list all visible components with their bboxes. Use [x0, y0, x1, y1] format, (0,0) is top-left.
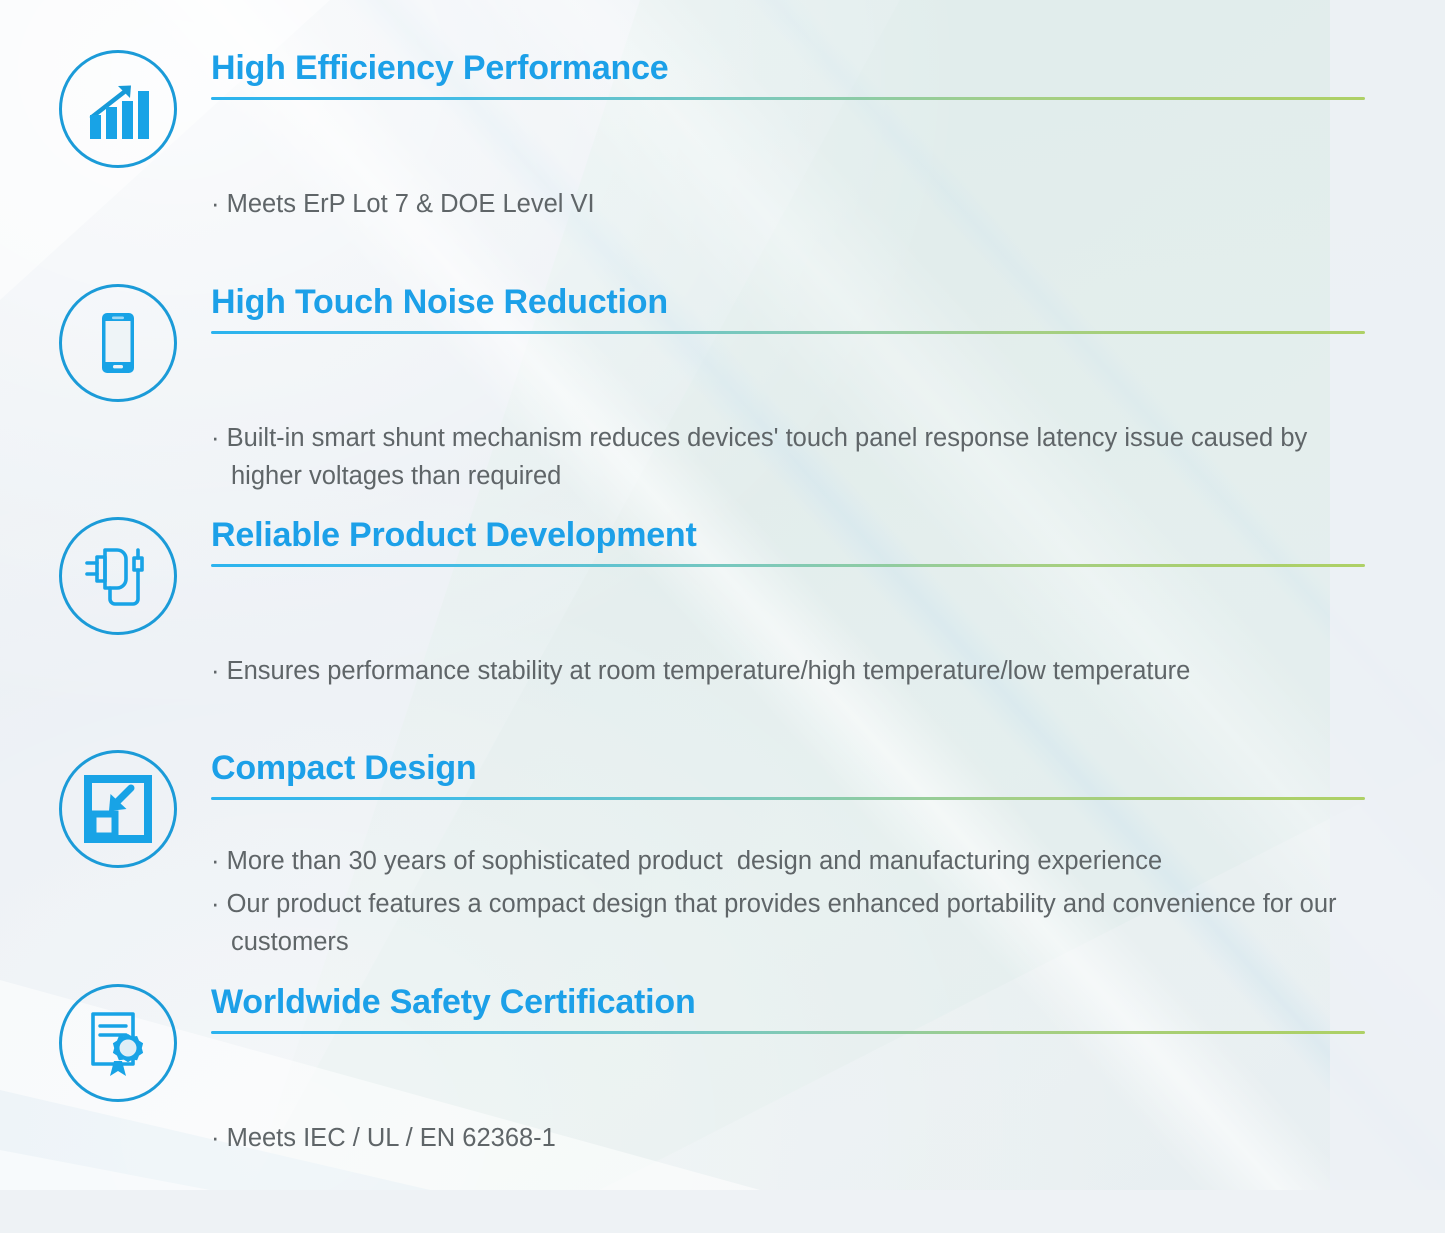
feature-title: Worldwide Safety Certification	[211, 982, 1365, 1022]
feature-divider	[211, 331, 1365, 334]
power-adapter-icon	[59, 517, 177, 635]
feature-bullet-text: · Built-in smart shunt mechanism reduces…	[211, 419, 1365, 495]
feature-divider	[211, 564, 1365, 567]
feature-bullet-text: · Our product features a compact design …	[211, 885, 1365, 961]
feature-block-worldwide-safety-certification: Worldwide Safety Certification · Meets I…	[0, 982, 1445, 1233]
bar-chart-growth-icon	[59, 50, 177, 168]
feature-bullet-text: · Meets ErP Lot 7 & DOE Level VI	[211, 185, 1365, 223]
feature-icon-wrapper	[55, 282, 180, 402]
feature-bullets: · Meets ErP Lot 7 & DOE Level VI	[211, 109, 1365, 299]
feature-title: High Touch Noise Reduction	[211, 282, 1365, 322]
feature-bullet: · Meets IEC / UL / EN 62368-1	[211, 1043, 1365, 1233]
feature-icon-wrapper	[55, 748, 180, 868]
feature-bullets: · Meets IEC / UL / EN 62368-1	[211, 1043, 1365, 1233]
feature-divider	[211, 1031, 1365, 1034]
feature-icon-wrapper	[55, 515, 180, 635]
feature-divider	[211, 797, 1365, 800]
certificate-seal-icon	[59, 984, 177, 1102]
feature-text-column: Worldwide Safety Certification · Meets I…	[211, 982, 1445, 1233]
feature-bullet-text: · Ensures performance stability at room …	[211, 652, 1365, 690]
feature-bullet-text: · Meets IEC / UL / EN 62368-1	[211, 1119, 1365, 1157]
feature-divider	[211, 97, 1365, 100]
feature-title: Compact Design	[211, 748, 1365, 788]
feature-icon-wrapper	[55, 982, 180, 1102]
feature-bullet: · Ensures performance stability at room …	[211, 576, 1365, 766]
feature-text-column: High Efficiency Performance · Meets ErP …	[211, 48, 1445, 299]
compact-resize-icon	[59, 750, 177, 868]
feature-title: High Efficiency Performance	[211, 48, 1365, 88]
feature-list: High Efficiency Performance · Meets ErP …	[0, 0, 1445, 1190]
feature-title: Reliable Product Development	[211, 515, 1365, 555]
feature-icon-wrapper	[55, 48, 180, 168]
feature-bullet: · Meets ErP Lot 7 & DOE Level VI	[211, 109, 1365, 299]
smartphone-icon	[59, 284, 177, 402]
feature-block-high-efficiency-performance: High Efficiency Performance · Meets ErP …	[0, 48, 1445, 299]
